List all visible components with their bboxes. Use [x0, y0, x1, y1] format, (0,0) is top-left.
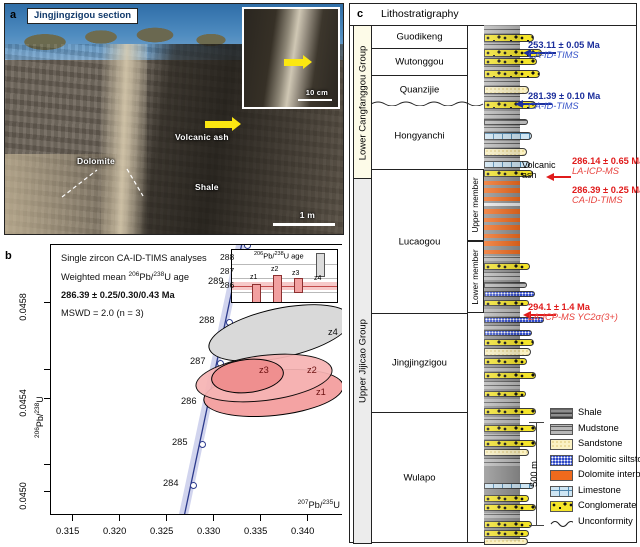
weighted-mean-inset-plot: 206Pb/238U age z1 z2 z3 z4: [231, 249, 338, 303]
bed-mudstone: [484, 417, 520, 423]
bed-sandstone: [484, 449, 529, 456]
bed-limestone: [484, 483, 534, 489]
inset-bar-label-z2: z2: [271, 266, 278, 273]
x-axis-sup-207: 207: [298, 499, 309, 506]
bed-mudstone: [484, 325, 520, 329]
formation-wutonggou: Wutonggou: [372, 48, 468, 75]
legend-label-unconformity: Unconformity: [578, 516, 633, 526]
bed-conglomerate: [484, 391, 526, 397]
bed-mudstone: [484, 111, 520, 118]
bed-mudstone: [484, 367, 520, 371]
x-tick-label-0325: 0.325: [150, 526, 173, 536]
age-method-281: CA-ID-TIMS: [528, 101, 600, 111]
bed-conglomerate: [484, 440, 536, 447]
x-tick-0325: [166, 515, 167, 521]
unconformity-line: [371, 100, 485, 106]
x-tick-0320: [119, 515, 120, 521]
inset-mean-line: [232, 286, 337, 287]
legend-swatch-limestone: [550, 486, 573, 497]
bed-conglomerate: [484, 521, 532, 528]
formation-wulapo: Wulapo: [372, 412, 468, 542]
bed-conglomerate: [484, 70, 540, 78]
group-lower-cangfanggou: Lower Cangfanggou Group: [353, 25, 372, 180]
x-tick-label-0330: 0.330: [197, 526, 220, 536]
panel-b-letter: b: [5, 250, 12, 262]
bed-conglomerate: [484, 372, 536, 379]
y-tick-label-0458: 0.0458: [18, 284, 28, 330]
age-method-286-14: LA-ICP-MS: [572, 166, 640, 176]
panel-c-letter: c: [357, 8, 363, 20]
age-annotation-286-14: 286.14 ± 0.65 Ma LA-ICP-MS: [572, 156, 640, 176]
label-dolomite: Dolomite: [77, 156, 115, 166]
x-axis-title: 207Pb/235U: [298, 499, 340, 510]
inset-bar-z4: [316, 253, 325, 277]
panel-a-title: Jingjingzigou section: [27, 8, 138, 24]
bed-conglomerate: [484, 408, 536, 415]
bed-dolomite-interbed: [484, 250, 520, 254]
scale-bar-cap-bottom: [529, 525, 544, 526]
legend-swatch-dolomitic-siltstone: [550, 455, 573, 466]
bed-mudstone: [484, 458, 520, 466]
bed-sandstone: [484, 538, 528, 545]
member-label-lower: Lower member: [470, 249, 480, 304]
bed-mudstone: [484, 141, 520, 147]
legend-item-limestone: Limestone: [550, 484, 636, 500]
bed-dolomitic-siltstone: [484, 330, 532, 336]
bed-mudstone: [484, 309, 520, 316]
x-tick-0335: [260, 515, 261, 521]
inset-bar-z3: [294, 278, 303, 293]
bed-conglomerate: [484, 34, 534, 42]
group-upper-jijicao: Upper Jijicao Group: [353, 178, 372, 544]
concordia-label-287: 287: [190, 356, 206, 366]
label-volcanic-ash: Volcanic ash: [175, 132, 229, 142]
bed-mudstone: [484, 272, 520, 280]
bed-dolomite-interbed: [484, 188, 520, 193]
panel-c-lithostratigraphy: c Lithostratigraphy Lower Cangfanggou Gr…: [349, 3, 637, 543]
legend-item-mudstone: Mudstone: [550, 422, 636, 438]
lithology-legend: Shale Mudstone Sandstone Dolomitic silts…: [550, 406, 636, 530]
formation-guodikeng: Guodikeng: [372, 25, 468, 48]
concordia-node-285: [199, 441, 206, 448]
formation-quanzijie: Quanzijie: [372, 75, 468, 103]
concordia-label-290: 290: [217, 244, 233, 247]
bed-ash-marker: [484, 203, 520, 206]
x-tick-label-0335: 0.335: [244, 526, 267, 536]
bed-conglomerate: [484, 358, 527, 365]
inset-bar-z1: [252, 284, 261, 303]
y-axis-title: 206Pb/238U: [34, 396, 45, 438]
legend-label-dolomite-interbed: Dolomite interbed: [578, 469, 640, 479]
bed-dolomite-interbed: [484, 234, 520, 238]
x-axis-sup-235: 235: [322, 499, 333, 506]
inset-bar-label-z3: z3: [292, 270, 299, 277]
age-value-253: 253.11 ± 0.05 Ma: [528, 40, 600, 50]
bed-mudstone-ledge: [484, 119, 528, 125]
bed-mudstone: [484, 434, 520, 439]
bed-mudstone: [484, 513, 520, 518]
concordia-label-286: 286: [181, 396, 197, 406]
bed-conglomerate: [484, 530, 529, 537]
panel-b-concordia-plot: b 0.0458 0.0454 0.0450 206Pb/238U Single…: [4, 238, 344, 543]
scalebar-main: [273, 223, 335, 226]
bed-sandstone: [484, 148, 527, 156]
bed-dolomite-interbed: [484, 241, 520, 246]
member-lower: Lower member: [467, 241, 484, 313]
bed-dolomite-interbed: [484, 197, 520, 201]
bed-mudstone: [484, 256, 520, 261]
scalebar-main-label: 1 m: [300, 210, 315, 220]
age-method-294: LA-ICP-MS YC2σ(3+): [528, 312, 618, 322]
panel-c-title: Lithostratigraphy: [381, 8, 459, 20]
age-annotation-286-39: 286.39 ± 0.25 Ma CA-ID-TIMS: [572, 185, 640, 205]
y-axis-sup-238: 238: [34, 403, 41, 414]
inset-y-label-286: 286: [220, 280, 234, 290]
bed-conglomerate: [484, 495, 529, 502]
inset-pb: Pb/: [263, 252, 274, 261]
scale-bar-label: 500 m: [529, 461, 539, 487]
y-tick-label-0450: 0.0450: [18, 473, 28, 519]
formation-label-guodikeng: Guodikeng: [397, 31, 443, 42]
inset-bar-label-z4: z4: [314, 275, 321, 282]
scale-bar-cap-top: [529, 422, 544, 423]
panel-a-field-photo: Volcanic ash Dolomite Shale 1 m 10 cm Ji…: [4, 3, 344, 235]
concordia-label-284: 284: [163, 478, 179, 488]
legend-item-dolomitic-siltstone: Dolomitic siltstone: [550, 453, 636, 469]
age-annotation-253: 253.11 ± 0.05 Ma CA-ID-TIMS: [528, 40, 600, 60]
formation-label-hongyanchi: Hongyanchi: [394, 131, 444, 142]
legend-label-dolomitic-siltstone: Dolomitic siltstone: [578, 454, 640, 464]
bed-mudstone-ledge: [484, 282, 527, 288]
age-method-286-39: CA-ID-TIMS: [572, 195, 640, 205]
age-value-286-39: 286.39 ± 0.25 Ma: [572, 185, 640, 195]
y-axis-sup-206: 206: [34, 427, 41, 438]
x-tick-0330: [213, 515, 214, 521]
inset-bar-z2: [273, 275, 282, 303]
legend-label-sandstone: Sandstone: [578, 438, 622, 448]
formation-label-lucaogou: Lucaogou: [399, 236, 441, 247]
inset-bar-label-z1: z1: [250, 274, 257, 281]
legend-label-conglomerate: Conglomerate: [578, 500, 636, 510]
age-annotation-281: 281.39 ± 0.10 Ma CA-ID-TIMS: [528, 91, 600, 111]
bed-mudstone: [484, 399, 520, 406]
bed-sandstone: [484, 348, 531, 356]
group-label-lower-cangfanggou: Lower Cangfanggou Group: [357, 45, 368, 160]
inset-y-label-287: 287: [220, 266, 234, 276]
bed-mudstone: [484, 381, 520, 389]
legend-label-limestone: Limestone: [578, 485, 621, 495]
x-axis-pb: Pb/: [308, 500, 322, 510]
x-tick-0315: [72, 515, 73, 521]
legend-item-conglomerate: Conglomerate: [550, 499, 636, 515]
legend-swatch-conglomerate: [550, 501, 573, 512]
inset-closeup-photo: 10 cm: [242, 7, 340, 109]
inset-sup-238: 238: [274, 251, 283, 257]
scalebar-inset-label: 10 cm: [306, 88, 328, 97]
bed-conglomerate: [484, 300, 529, 306]
bed-dolomite-interbed: [484, 225, 520, 230]
formation-label-quanzijie: Quanzijie: [400, 84, 440, 95]
legend-swatch-sandstone: [550, 439, 573, 450]
formation-label-wulapo: Wulapo: [403, 472, 435, 483]
inset-u-age: U age: [284, 252, 304, 261]
formation-lucaogou: Lucaogou: [372, 169, 468, 313]
legend-item-sandstone: Sandstone: [550, 437, 636, 453]
y-axis-pb: Pb/: [35, 414, 45, 428]
age-arrow-286: [553, 176, 571, 178]
y-tick-label-0454: 0.0454: [18, 380, 28, 426]
formation-label-jingjingzigou: Jingjingzigou: [392, 358, 447, 369]
age-annotation-294: 294.1 ± 1.4 Ma LA-ICP-MS YC2σ(3+): [528, 302, 618, 322]
legend-item-unconformity: Unconformity: [550, 515, 636, 531]
legend-label-mudstone: Mudstone: [578, 423, 619, 433]
inset-gridline-286: [232, 292, 337, 293]
legend-item-dolomite-interbed: Dolomite interbed: [550, 468, 636, 484]
age-value-286-14: 286.14 ± 0.65 Ma: [572, 156, 640, 166]
bed-mudstone: [484, 26, 520, 33]
concordia-plot-area: Single zircon CA-ID-TIMS analyses Weight…: [50, 244, 342, 515]
ellipse-label-z3: z3: [259, 365, 269, 375]
inset-title: 206Pb/238U age: [254, 251, 304, 261]
concordia-label-288: 288: [199, 315, 215, 325]
bed-dolomite-interbed: [484, 209, 520, 214]
ellipse-label-z4: z4: [328, 327, 338, 337]
bed-mudstone: [484, 126, 520, 131]
bed-conglomerate: [484, 339, 534, 346]
age-value-281: 281.39 ± 0.10 Ma: [528, 91, 600, 101]
bed-limestone: [484, 132, 532, 140]
inset-sup-206: 206: [254, 251, 263, 257]
bed-conglomerate: [484, 263, 530, 270]
panel-c-header: c Lithostratigraphy: [350, 4, 636, 26]
age-value-294: 294.1 ± 1.4 Ma: [528, 302, 618, 312]
concordia-node-284: [190, 482, 197, 489]
member-upper: Upper member: [467, 169, 484, 241]
legend-item-shale: Shale: [550, 406, 636, 422]
formation-hongyanchi: Hongyanchi: [372, 103, 468, 169]
ellipse-label-z1: z1: [316, 387, 326, 397]
x-tick-0340: [307, 515, 308, 521]
x-tick-label-0340: 0.340: [291, 526, 314, 536]
x-axis-line: [50, 514, 342, 515]
x-axis-u: U: [333, 500, 340, 510]
y-axis-u: U: [35, 396, 45, 403]
formation-label-wutonggou: Wutonggou: [395, 57, 443, 68]
bed-dolomite-interbed: [484, 181, 520, 185]
bed-conglomerate: [484, 504, 536, 511]
panel-a-letter: a: [10, 9, 16, 21]
legend-swatch-dolomite-interbed: [550, 470, 573, 481]
bed-mudstone: [484, 43, 520, 48]
formation-jingjingzigou: Jingjingzigou: [372, 313, 468, 412]
scalebar-inset: [298, 99, 332, 102]
bed-dolomite-interbed: [484, 218, 520, 222]
age-method-253: CA-ID-TIMS: [528, 50, 600, 60]
label-shale: Shale: [195, 182, 219, 192]
legend-swatch-mudstone: [550, 424, 573, 435]
group-label-upper-jijicao: Upper Jijicao Group: [357, 319, 368, 403]
ellipse-label-z2: z2: [307, 365, 317, 375]
legend-swatch-shale: [550, 408, 573, 419]
x-tick-label-0320: 0.320: [103, 526, 126, 536]
legend-swatch-unconformity: [550, 518, 573, 529]
bed-mudstone: [484, 79, 520, 85]
concordia-label-285: 285: [172, 437, 188, 447]
volcanic-ash-arrow: [205, 121, 233, 128]
inset-y-label-288: 288: [220, 252, 234, 262]
bed-sandstone: [484, 86, 529, 94]
x-tick-label-0315: 0.315: [56, 526, 79, 536]
member-label-upper: Upper member: [470, 177, 480, 232]
legend-label-shale: Shale: [578, 407, 602, 417]
inset-ash-arrow: [284, 59, 304, 66]
bed-dolomitic-siltstone: [484, 291, 535, 297]
bed-conglomerate: [484, 425, 536, 432]
